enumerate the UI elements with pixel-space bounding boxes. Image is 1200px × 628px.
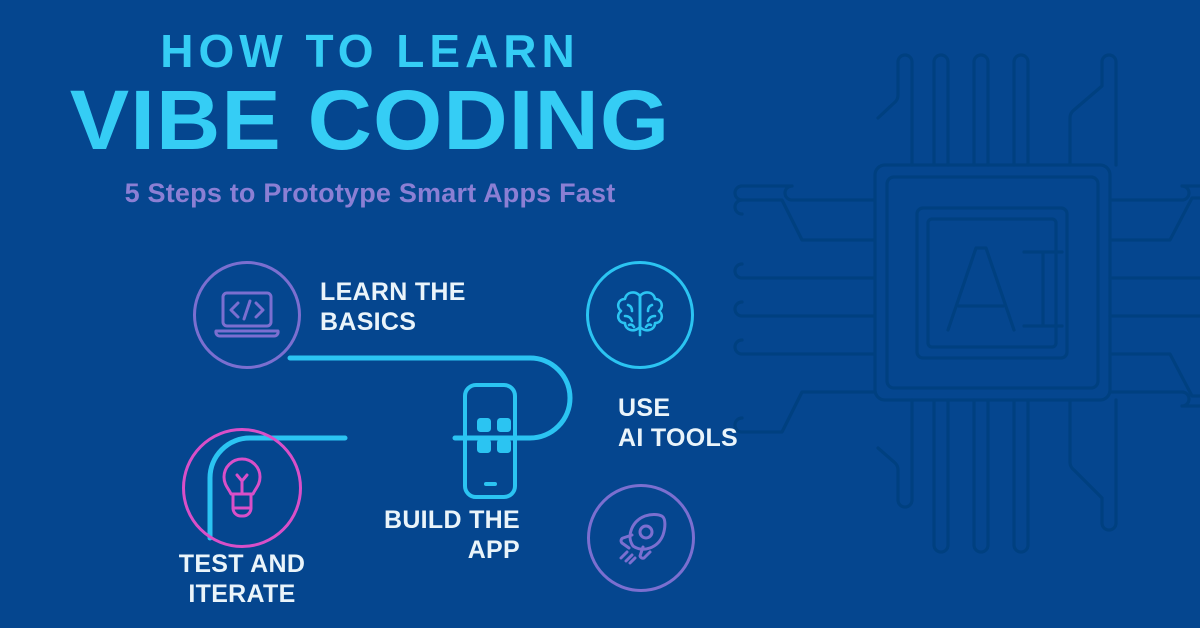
steps-flow: LEARN THE BASICS USE AI T: [0, 248, 760, 628]
label-line-2: BASICS: [320, 308, 540, 338]
sidebar-item-launch[interactable]: [587, 484, 695, 592]
sidebar-item-test-and-iterate[interactable]: [182, 428, 302, 548]
label-line-2: ITERATE: [152, 580, 332, 610]
step-label-use-ai-tools: USE AI TOOLS: [618, 394, 818, 453]
step-label-build-the-app: BUILD THE APP: [300, 506, 520, 565]
label-line-2: AI TOOLS: [618, 424, 818, 454]
rocket-icon: [612, 509, 670, 567]
lightbulb-icon: [216, 455, 268, 521]
sidebar-item-use-ai-tools[interactable]: [586, 261, 694, 369]
label-line-2: APP: [300, 536, 520, 566]
infographic-canvas: HOW TO LEARN VIBE CODING 5 Steps to Prot…: [0, 0, 1200, 628]
step-label-test-and-iterate: TEST AND ITERATE: [152, 550, 332, 609]
page-title: VIBE CODING: [0, 78, 762, 164]
kicker-text: HOW TO LEARN: [0, 28, 740, 74]
sidebar-item-build-the-app[interactable]: [455, 382, 525, 500]
step-label-learn-the-basics: LEARN THE BASICS: [320, 278, 540, 337]
label-line-1: BUILD THE: [300, 506, 520, 536]
header-block: HOW TO LEARN VIBE CODING 5 Steps to Prot…: [0, 28, 740, 209]
smartphone-apps-icon: [455, 382, 525, 500]
cpu-chip-icon: [730, 0, 1200, 628]
laptop-code-icon: [214, 289, 280, 341]
subtitle-text: 5 Steps to Prototype Smart Apps Fast: [0, 178, 740, 209]
sidebar-item-learn-the-basics[interactable]: [193, 261, 301, 369]
label-line-1: LEARN THE: [320, 278, 540, 308]
label-line-1: TEST AND: [152, 550, 332, 580]
label-line-1: USE: [618, 394, 818, 424]
brain-icon: [611, 287, 669, 343]
